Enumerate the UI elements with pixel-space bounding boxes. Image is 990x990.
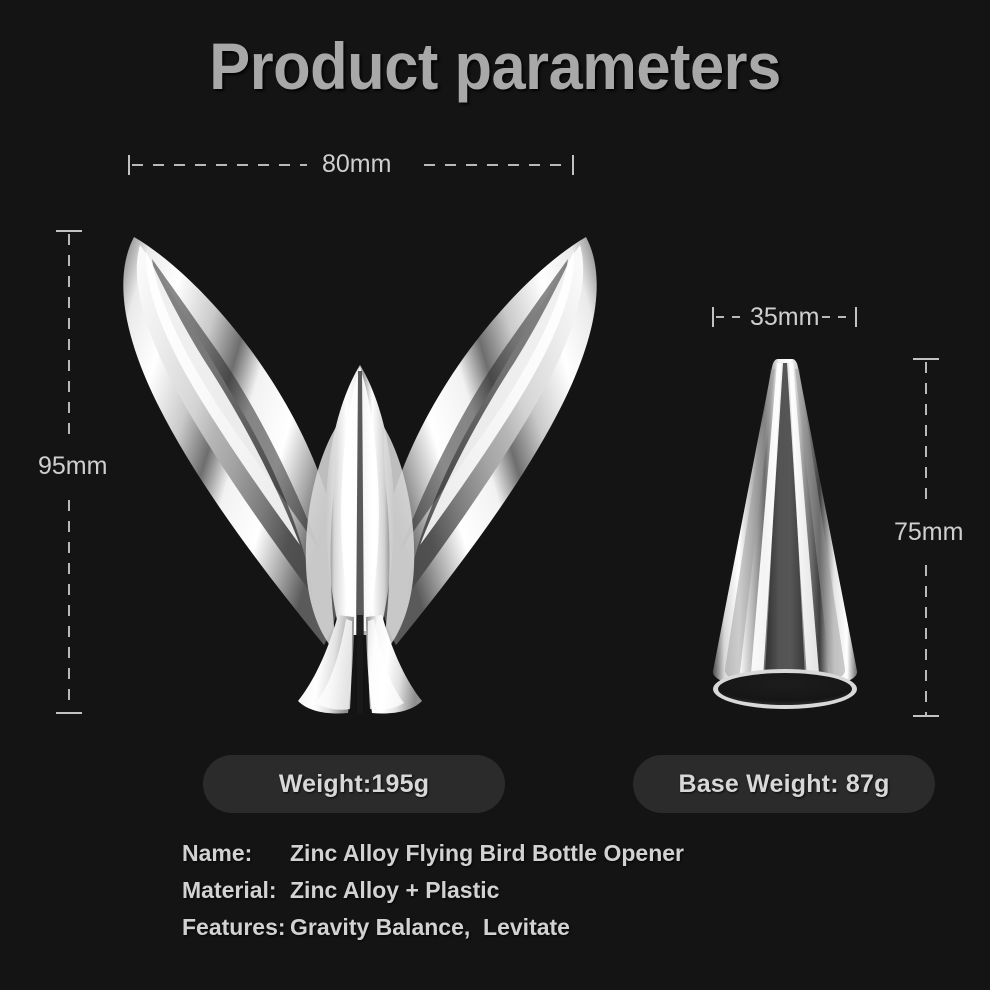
spec-label-material: Material:	[182, 877, 290, 904]
spec-row-features: Features: Gravity Balance, Levitate	[182, 914, 684, 951]
dimension-line-left	[132, 164, 307, 166]
spec-value-features: Gravity Balance, Levitate	[290, 914, 570, 941]
badge-bird-weight-label: Weight:195g	[279, 770, 429, 799]
badge-bird-weight: Weight:195g	[203, 755, 505, 813]
dimension-cap-left	[128, 155, 130, 175]
dimension-cap-right	[572, 155, 574, 175]
dimension-line-right	[822, 316, 854, 318]
dimension-cap-right	[855, 307, 857, 327]
dimension-line-right	[424, 164, 571, 166]
dimension-cap-top	[56, 230, 82, 232]
dimension-cap-left	[712, 307, 714, 327]
dimension-label-bird-height: 95mm	[38, 452, 107, 481]
dimension-cap-bottom	[56, 712, 82, 714]
cone-opening	[718, 673, 852, 705]
product-image-base	[695, 355, 875, 720]
dimension-line-bottom	[925, 565, 927, 715]
spec-label-features: Features:	[182, 914, 290, 941]
product-image-bird	[100, 215, 620, 725]
bird-tail-split	[357, 615, 363, 713]
product-parameters-page: Product parameters 80mm 95mm 35mm 75mm	[0, 0, 990, 990]
dimension-label-base-height: 75mm	[894, 518, 963, 547]
spec-row-material: Material: Zinc Alloy + Plastic	[182, 877, 684, 914]
badge-base-weight-label: Base Weight: 87g	[678, 770, 889, 799]
dimension-line-left	[716, 316, 740, 318]
dimension-label-base-width: 35mm	[750, 303, 819, 332]
dimension-cap-bottom	[913, 715, 939, 717]
dimension-line-bottom	[68, 500, 70, 710]
badge-base-weight: Base Weight: 87g	[633, 755, 935, 813]
dimension-line-top	[68, 234, 70, 434]
page-title: Product parameters	[35, 28, 956, 104]
specification-list: Name: Zinc Alloy Flying Bird Bottle Open…	[182, 840, 684, 951]
dimension-label-bird-width: 80mm	[322, 150, 391, 179]
spec-value-name: Zinc Alloy Flying Bird Bottle Opener	[290, 840, 684, 867]
spec-row-name: Name: Zinc Alloy Flying Bird Bottle Open…	[182, 840, 684, 877]
dimension-cap-top	[913, 358, 939, 360]
spec-label-name: Name:	[182, 840, 290, 867]
spec-value-material: Zinc Alloy + Plastic	[290, 877, 499, 904]
dimension-line-top	[925, 362, 927, 504]
